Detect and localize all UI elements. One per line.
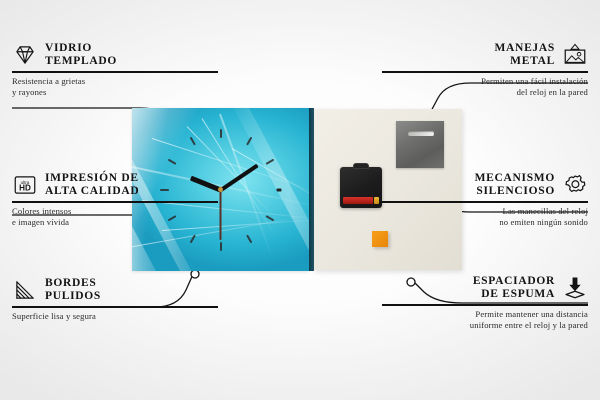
feature-header: MECANISMO SILENCIOSO xyxy=(382,172,588,201)
ultra-hd-icon: ultra HD xyxy=(12,172,38,198)
picture-hanger-icon xyxy=(562,42,588,68)
metal-hanger-plate xyxy=(396,121,444,168)
battery xyxy=(343,197,373,204)
clock-tick xyxy=(189,136,195,145)
clock-mechanism-box xyxy=(340,167,382,208)
feature-title-line2: SILENCIOSO xyxy=(475,185,555,198)
feature-desc-line1: Permiten una fácil instalación xyxy=(382,76,588,87)
feature-desc-line2: del reloj en la pared xyxy=(382,87,588,98)
feature-description: Colores intensos e imagen vívida xyxy=(12,203,218,228)
feature-description: Superficie lisa y segura xyxy=(12,308,218,322)
feature-desc-line2: uniforme entre el reloj y la pared xyxy=(382,320,588,331)
feature-desc-line1: Resistencia a grietas xyxy=(12,76,218,87)
feature-title-line1: MECANISMO xyxy=(475,172,555,185)
feature-title: MANEJAS METAL xyxy=(495,42,556,68)
infographic-canvas: VIDRIO TEMPLADO Resistencia a grietas y … xyxy=(0,0,600,400)
feature-impresion-alta-calidad: ultra HD IMPRESIÓN DE ALTA CALIDAD Color… xyxy=(12,172,218,228)
feature-desc-line2: e imagen vívida xyxy=(12,217,218,228)
feature-title-line1: VIDRIO xyxy=(45,42,117,55)
feature-desc-line1: Colores intensos xyxy=(12,206,218,217)
clock-tick xyxy=(167,158,176,164)
feature-title-line2: DE ESPUMA xyxy=(473,288,555,301)
feature-title-line1: ESPACIADOR xyxy=(473,275,555,288)
feature-title-line2: ALTA CALIDAD xyxy=(45,185,139,198)
feature-description: Permite mantener una distancia uniforme … xyxy=(382,306,588,331)
feature-title-line2: PULIDOS xyxy=(45,290,101,303)
feature-title-line1: MANEJAS xyxy=(495,42,556,55)
feature-title: MECANISMO SILENCIOSO xyxy=(475,172,555,198)
feature-title-line1: IMPRESIÓN DE xyxy=(45,172,139,185)
feature-mecanismo-silencioso: MECANISMO SILENCIOSO Las manecillas del … xyxy=(382,172,588,228)
polished-edge-icon xyxy=(12,277,38,303)
feature-title: BORDES PULIDOS xyxy=(45,277,101,303)
battery-contact xyxy=(374,197,379,204)
feature-manejas-metal: MANEJAS METAL Permiten una fácil instala… xyxy=(382,42,588,98)
clock-tick xyxy=(220,129,222,138)
feature-title-line2: METAL xyxy=(495,55,556,68)
feature-header: BORDES PULIDOS xyxy=(12,277,218,306)
feature-header: VIDRIO TEMPLADO xyxy=(12,42,218,71)
feature-desc-line2: y rayones xyxy=(12,87,218,98)
feature-description: Permiten una fácil instalación del reloj… xyxy=(382,73,588,98)
feature-header: ultra HD IMPRESIÓN DE ALTA CALIDAD xyxy=(12,172,218,201)
feature-desc-line1: Permite mantener una distancia xyxy=(382,309,588,320)
feature-bordes-pulidos: BORDES PULIDOS Superficie lisa y segura xyxy=(12,277,218,322)
ultra-hd-icon-large-label: HD xyxy=(19,184,31,193)
clock-tick xyxy=(220,242,222,251)
hanger-keyhole-slot xyxy=(408,131,434,136)
gear-icon xyxy=(562,172,588,198)
foam-spacer-icon xyxy=(562,275,588,301)
feature-title: VIDRIO TEMPLADO xyxy=(45,42,117,68)
feature-title-line1: BORDES xyxy=(45,277,101,290)
feature-description: Resistencia a grietas y rayones xyxy=(12,73,218,98)
mechanism-hook-tab xyxy=(353,163,369,169)
diamond-icon xyxy=(12,42,38,68)
feature-title: IMPRESIÓN DE ALTA CALIDAD xyxy=(45,172,139,198)
clock-tick xyxy=(246,234,252,243)
feature-header: MANEJAS METAL xyxy=(382,42,588,71)
clock-center-hub xyxy=(218,187,223,192)
foam-spacer-pad xyxy=(372,231,388,247)
clock-second-hand xyxy=(220,190,222,240)
feature-desc-line1: Las manecillas del reloj xyxy=(382,206,588,217)
feature-description: Las manecillas del reloj no emiten ningú… xyxy=(382,203,588,228)
feature-espaciador-espuma: ESPACIADOR DE ESPUMA Permite mantener un… xyxy=(382,275,588,331)
feature-vidrio-templado: VIDRIO TEMPLADO Resistencia a grietas y … xyxy=(12,42,218,98)
feature-desc-line2: no emiten ningún sonido xyxy=(382,217,588,228)
clock-tick xyxy=(277,188,282,191)
feature-title-line2: TEMPLADO xyxy=(45,55,117,68)
feature-desc-line1: Superficie lisa y segura xyxy=(12,311,218,322)
feature-header: ESPACIADOR DE ESPUMA xyxy=(382,275,588,304)
feature-title: ESPACIADOR DE ESPUMA xyxy=(473,275,555,301)
